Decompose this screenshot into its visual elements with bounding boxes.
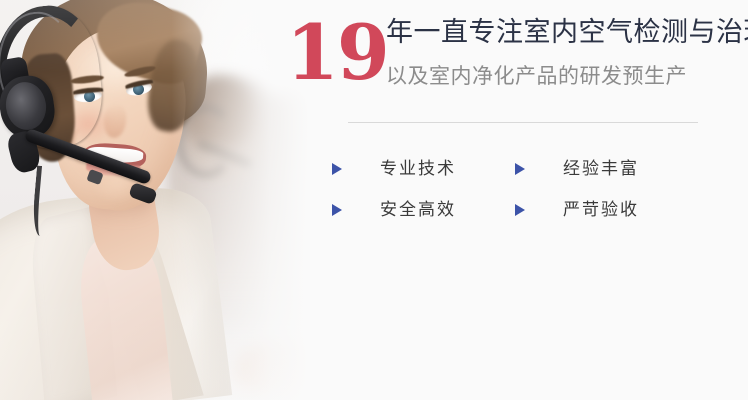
feature-row: 安全高效 严苛验收 xyxy=(332,189,732,230)
headline-row: 19 年一直专注室内空气检测与治理 以及室内净化产品的研发预生产 xyxy=(286,14,736,110)
years-number: 19 xyxy=(286,10,388,96)
feature-row: 专业技术 经验丰富 xyxy=(332,148,732,189)
promo-banner: 19 年一直专注室内空气检测与治理 以及室内净化产品的研发预生产 专业技术 经验… xyxy=(0,0,748,400)
banner-content: 19 年一直专注室内空气检测与治理 以及室内净化产品的研发预生产 专业技术 经验… xyxy=(286,0,748,400)
feature-label: 专业技术 xyxy=(380,157,456,181)
feature-item: 专业技术 xyxy=(332,157,515,181)
foreground-agent xyxy=(0,0,260,400)
feature-label: 经验丰富 xyxy=(563,157,639,181)
feature-item: 安全高效 xyxy=(332,198,515,222)
feature-list: 专业技术 经验丰富 安全高效 严苛验收 xyxy=(332,148,732,230)
triangle-right-icon xyxy=(332,204,342,216)
headline-main: 年一直专注室内空气检测与治理 xyxy=(386,14,736,52)
headline-texts: 年一直专注室内空气检测与治理 以及室内净化产品的研发预生产 xyxy=(386,14,736,91)
headline-sub: 以及室内净化产品的研发预生产 xyxy=(386,61,736,91)
feature-item: 经验丰富 xyxy=(515,157,698,181)
call-center-agent-photo xyxy=(0,0,330,400)
triangle-right-icon xyxy=(332,163,342,175)
section-divider xyxy=(348,122,698,123)
feature-item: 严苛验收 xyxy=(515,198,698,222)
feature-label: 严苛验收 xyxy=(563,198,639,222)
triangle-right-icon xyxy=(515,163,525,175)
triangle-right-icon xyxy=(515,204,525,216)
feature-label: 安全高效 xyxy=(380,198,456,222)
